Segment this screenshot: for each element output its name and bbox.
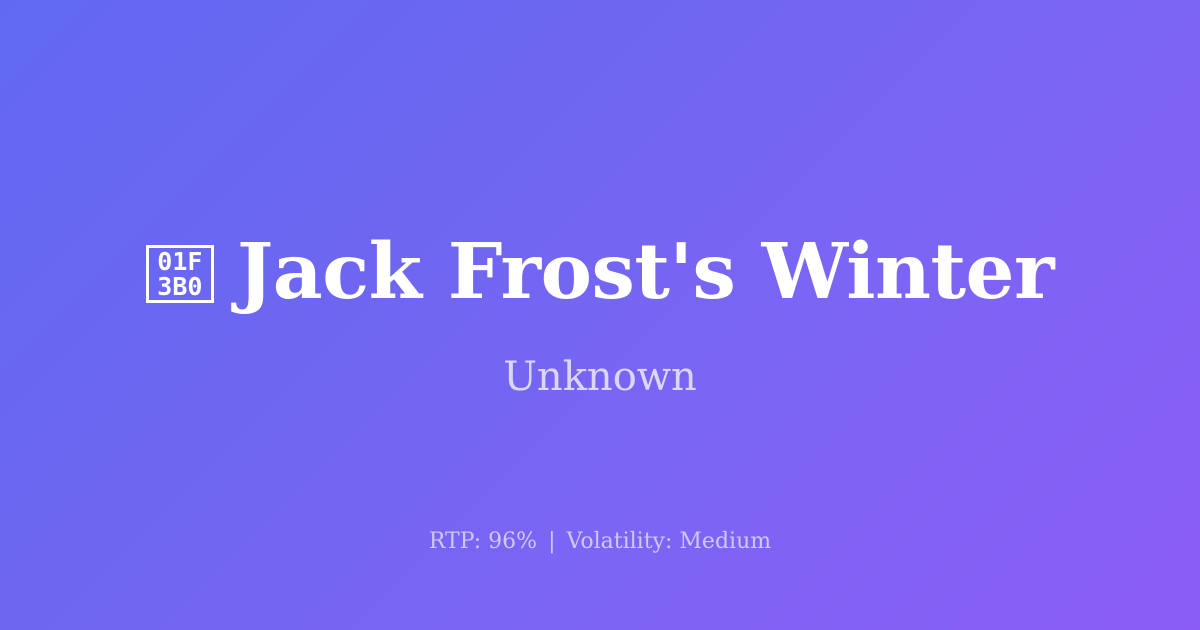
provider-name: Unknown (503, 355, 697, 399)
volatility-label: Volatility: (567, 529, 673, 554)
title-row: 01F 3B0 Jack Frost's Winter (146, 232, 1054, 313)
page-title: Jack Frost's Winter (237, 232, 1054, 313)
hero-block: 01F 3B0 Jack Frost's Winter Unknown (0, 232, 1200, 399)
rtp-label: RTP: (429, 529, 481, 554)
rtp-value: 96% (488, 529, 537, 554)
og-card: 01F 3B0 Jack Frost's Winter Unknown RTP:… (0, 0, 1200, 630)
codepoint-row-lower: 3B0 (157, 274, 202, 299)
volatility-value: Medium (679, 529, 771, 554)
codepoint-row-upper: 01F (157, 249, 202, 274)
meta-separator: | (544, 529, 559, 554)
slot-machine-icon: 01F 3B0 (146, 245, 214, 303)
game-meta-line: RTP: 96% | Volatility: Medium (0, 529, 1200, 554)
